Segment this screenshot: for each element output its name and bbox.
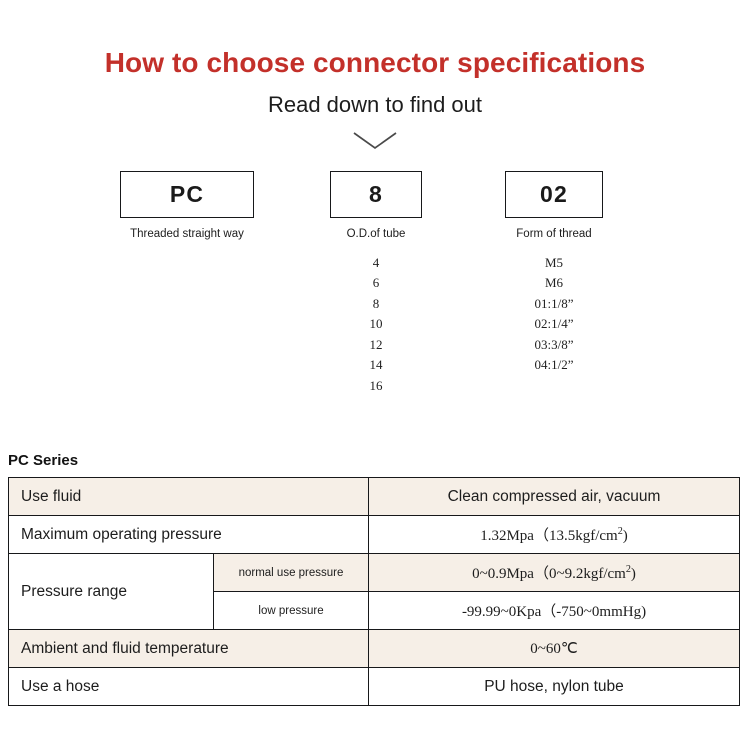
row-value: 0~0.9Mpa（0~9.2kgf/cm2) xyxy=(369,554,740,592)
code-box-thread-form: 02 xyxy=(505,171,603,218)
list-item: 02:1/4” xyxy=(505,314,603,335)
table-row: Ambient and fluid temperature 0~60℃ xyxy=(9,630,740,668)
row-sub-label: normal use pressure xyxy=(214,554,369,592)
list-item: 01:1/8” xyxy=(505,294,603,315)
code-column-thread-form: 02 Form of thread M5 M6 01:1/8” 02:1/4” … xyxy=(505,171,603,376)
code-caption-tube-od: O.D.of tube xyxy=(330,228,422,240)
list-item: 4 xyxy=(330,253,422,274)
list-item: 12 xyxy=(330,335,422,356)
code-column-series: PC Threaded straight way xyxy=(120,171,254,240)
row-label: Use a hose xyxy=(9,668,369,706)
row-value-suffix: ) xyxy=(623,528,628,544)
table-row: Pressure range normal use pressure 0~0.9… xyxy=(9,554,740,592)
row-value: PU hose, nylon tube xyxy=(369,668,740,706)
code-box-tube-od: 8 xyxy=(330,171,422,218)
list-item: M5 xyxy=(505,253,603,274)
row-value: Clean compressed air, vacuum xyxy=(369,478,740,516)
row-value: -99.99~0Kpa（-750~0mmHg) xyxy=(369,592,740,630)
list-item: 16 xyxy=(330,376,422,397)
row-label-pressure-range: Pressure range xyxy=(9,554,214,630)
code-column-tube-od: 8 O.D.of tube 4 6 8 10 12 14 16 xyxy=(330,171,422,397)
page-subtitle: Read down to find out xyxy=(0,93,750,117)
row-value-text: 0~0.9Mpa（0~9.2kgf/cm xyxy=(472,566,626,582)
code-caption-series: Threaded straight way xyxy=(120,228,254,240)
table-row: Maximum operating pressure 1.32Mpa（13.5k… xyxy=(9,516,740,554)
list-item: 10 xyxy=(330,314,422,335)
row-value-text: 1.32Mpa（13.5kgf/cm xyxy=(480,528,617,544)
chevron-down-icon xyxy=(0,129,750,153)
spec-table-title: PC Series xyxy=(8,452,78,469)
row-label: Use fluid xyxy=(9,478,369,516)
row-sub-label: low pressure xyxy=(214,592,369,630)
page-title: How to choose connector specifications xyxy=(0,48,750,79)
option-list-tube-od: 4 6 8 10 12 14 16 xyxy=(330,253,422,397)
list-item: 6 xyxy=(330,273,422,294)
option-list-thread-form: M5 M6 01:1/8” 02:1/4” 03:3/8” 04:1/2” xyxy=(505,253,603,376)
part-number-builder: PC Threaded straight way 8 O.D.of tube 4… xyxy=(0,171,750,341)
row-label: Maximum operating pressure xyxy=(9,516,369,554)
code-box-series: PC xyxy=(120,171,254,218)
table-row: Use a hose PU hose, nylon tube xyxy=(9,668,740,706)
table-row: Use fluid Clean compressed air, vacuum xyxy=(9,478,740,516)
row-value-suffix: ) xyxy=(631,566,636,582)
code-caption-thread-form: Form of thread xyxy=(505,228,603,240)
list-item: 14 xyxy=(330,355,422,376)
list-item: 8 xyxy=(330,294,422,315)
list-item: 04:1/2” xyxy=(505,355,603,376)
list-item: 03:3/8” xyxy=(505,335,603,356)
row-value: 0~60℃ xyxy=(369,630,740,668)
row-label: Ambient and fluid temperature xyxy=(9,630,369,668)
list-item: M6 xyxy=(505,273,603,294)
row-value: 1.32Mpa（13.5kgf/cm2) xyxy=(369,516,740,554)
spec-table: Use fluid Clean compressed air, vacuum M… xyxy=(8,477,740,706)
page-header: How to choose connector specifications R… xyxy=(0,0,750,153)
